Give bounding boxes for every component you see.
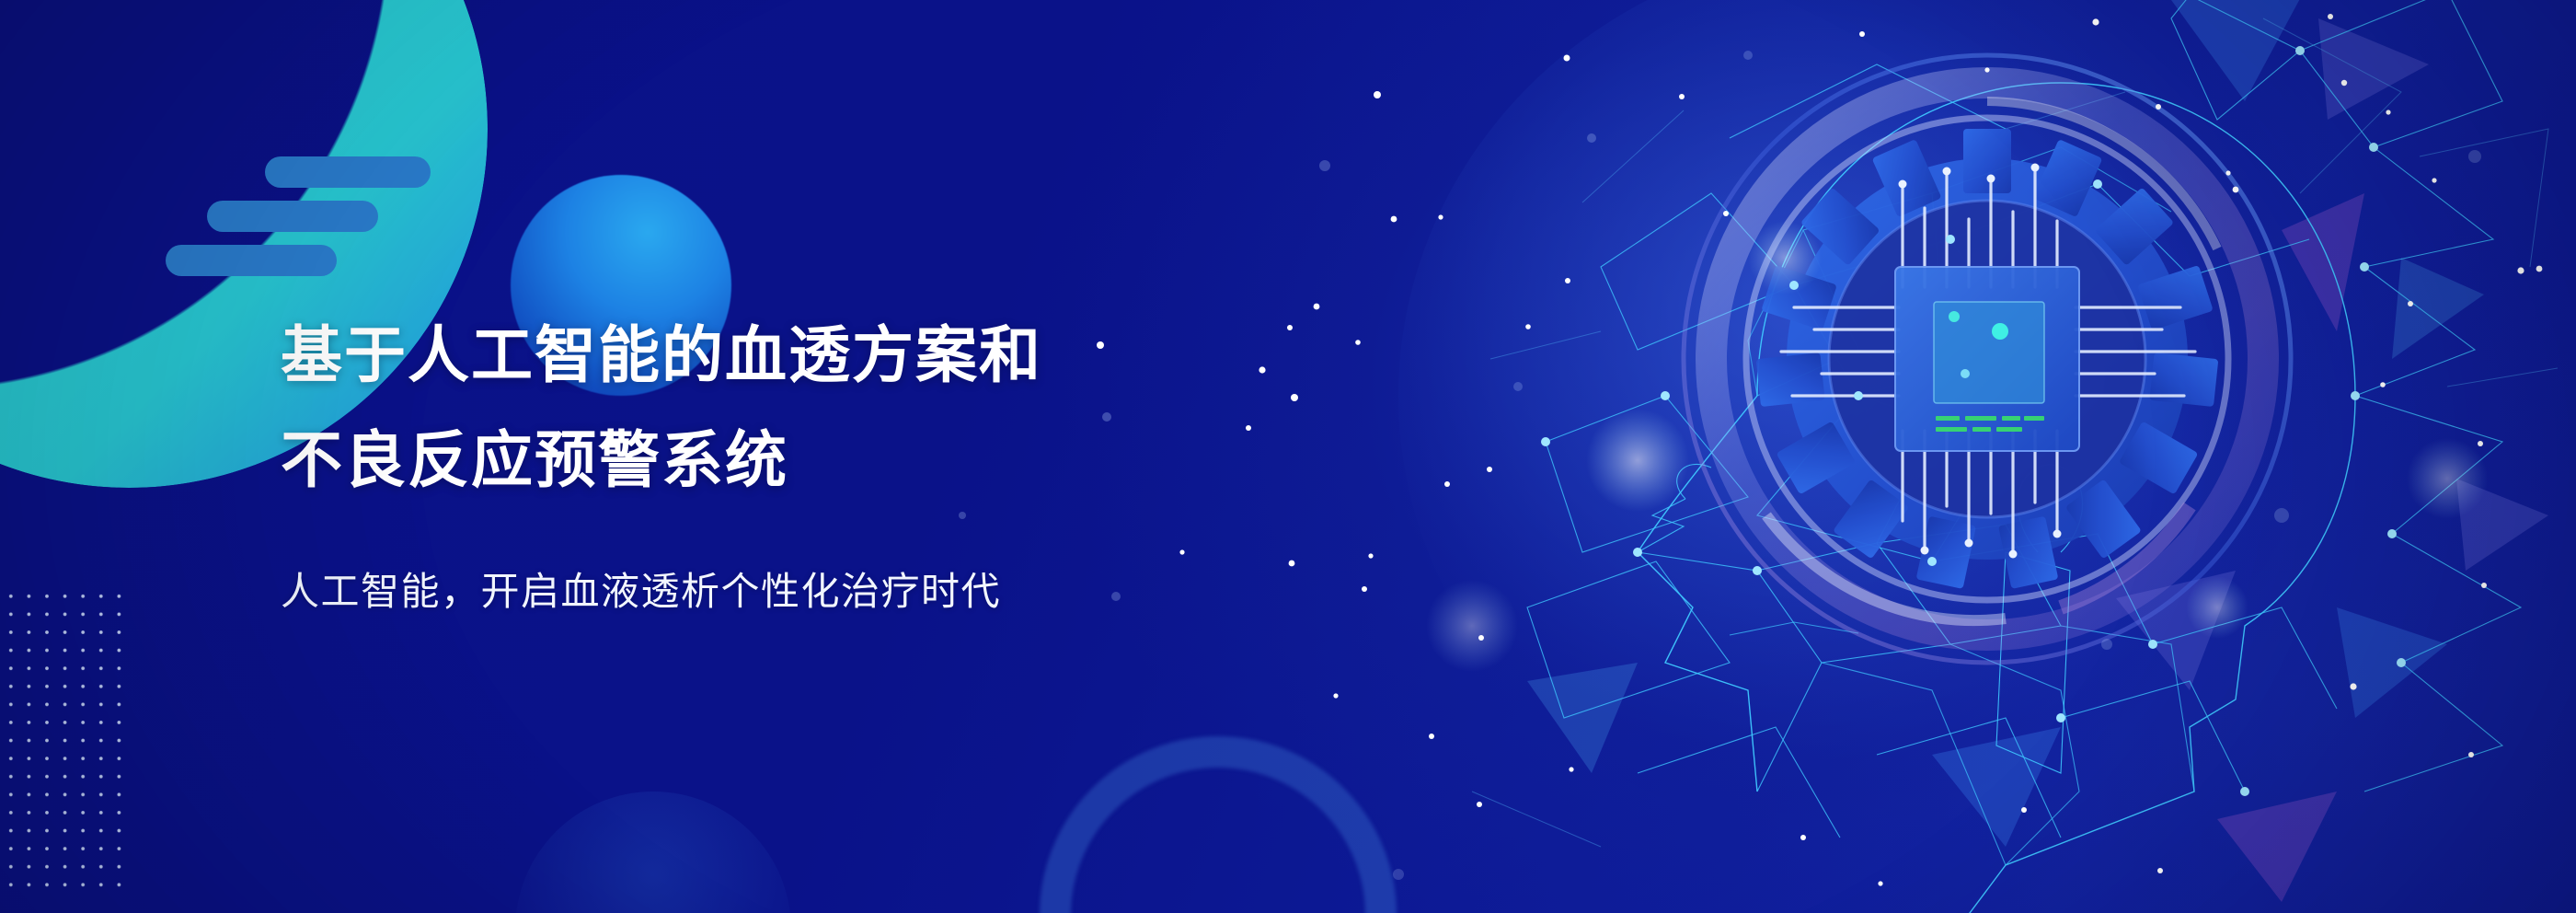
- page-title-line-2: 不良反应预警系统: [281, 409, 1293, 514]
- glow-blob-decoration: [515, 792, 791, 913]
- swoosh-bar-3: [166, 245, 337, 276]
- dot-grid-decoration: [0, 585, 134, 889]
- glow-ring-decoration: [1040, 736, 1397, 913]
- swoosh-bar-1: [265, 156, 431, 188]
- hero-text-block: 基于人工智能的血透方案和 不良反应预警系统 人工智能，开启血液透析个性化治疗时代: [281, 304, 1293, 617]
- swoosh-bar-2: [207, 201, 378, 232]
- hero-banner: 基于人工智能的血透方案和 不良反应预警系统 人工智能，开启血液透析个性化治疗时代: [0, 0, 2576, 913]
- page-title-line-1: 基于人工智能的血透方案和: [281, 304, 1293, 409]
- hero-subtitle: 人工智能，开启血液透析个性化治疗时代: [281, 567, 1293, 617]
- ai-head-artwork: [1362, 0, 2576, 913]
